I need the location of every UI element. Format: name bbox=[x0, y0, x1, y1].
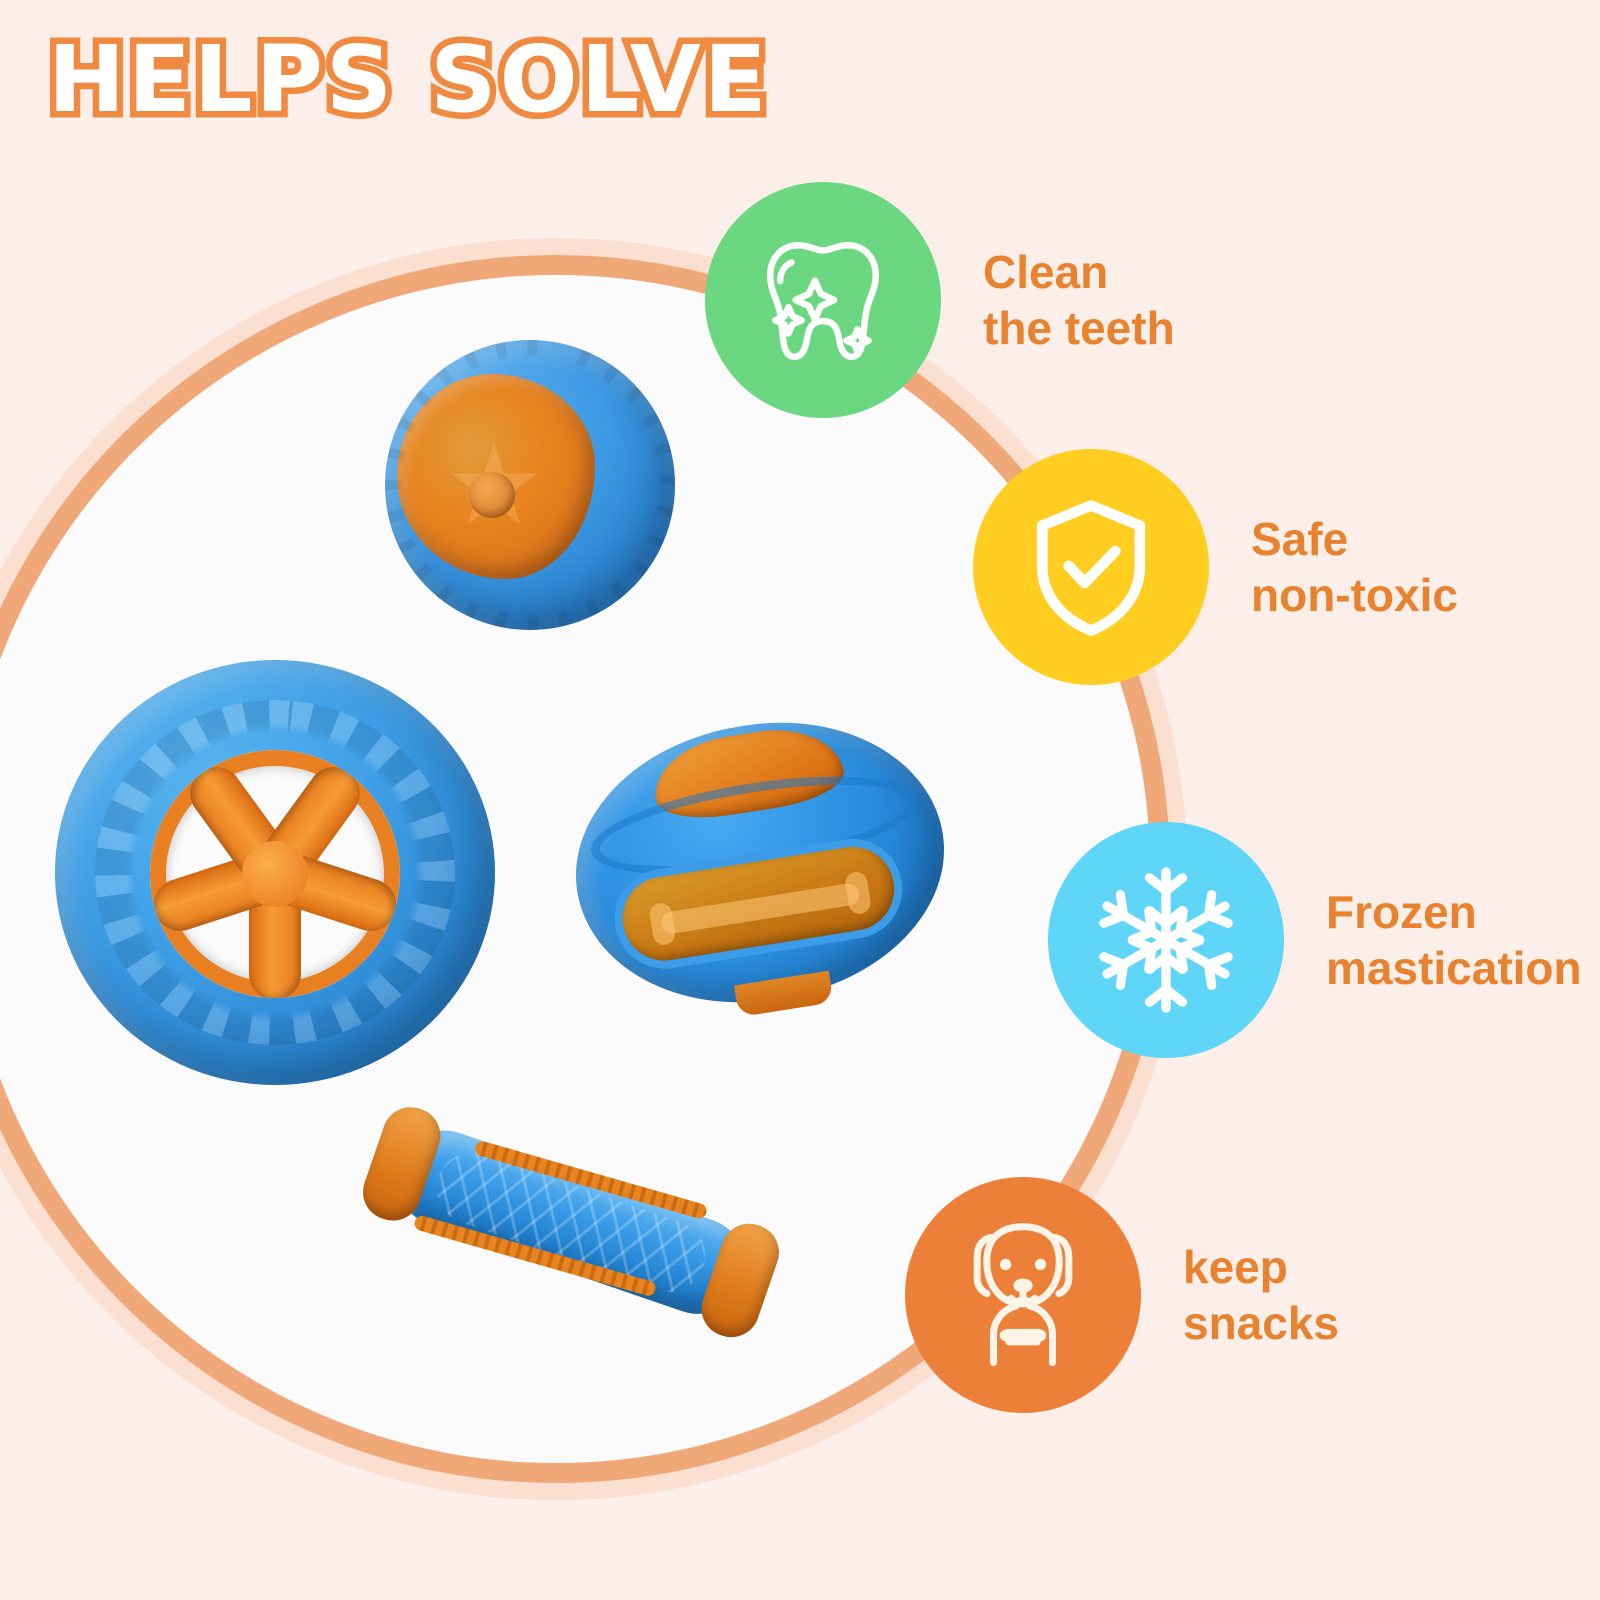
feature-safe-non-toxic: Safe non-toxic bbox=[973, 449, 1458, 685]
badge-frozen-mastication bbox=[1048, 822, 1284, 1058]
infographic-canvas: HELPS SOLVE bbox=[0, 0, 1600, 1600]
page-title: HELPS SOLVE bbox=[48, 34, 770, 126]
shield-check-icon bbox=[1029, 497, 1153, 637]
badge-keep-snacks bbox=[905, 1177, 1141, 1413]
badge-safe-non-toxic bbox=[973, 449, 1209, 685]
feature-label-frozen-mastication: Frozen mastication bbox=[1326, 884, 1582, 996]
product-chew-tire bbox=[55, 660, 495, 1085]
feature-label-clean-the-teeth: Clean the teeth bbox=[983, 244, 1175, 356]
feature-clean-the-teeth: Clean the teeth bbox=[705, 182, 1175, 418]
feature-label-keep-snacks: keep snacks bbox=[1183, 1239, 1339, 1351]
ball-tread-texture bbox=[385, 340, 675, 630]
tire-hub bbox=[150, 750, 400, 998]
feature-label-safe-non-toxic: Safe non-toxic bbox=[1251, 511, 1458, 623]
product-chew-ball bbox=[385, 340, 675, 630]
snowflake-icon bbox=[1091, 865, 1241, 1015]
badge-clean-the-teeth bbox=[705, 182, 941, 418]
football-bone-relief bbox=[660, 882, 861, 935]
feature-keep-snacks: keep snacks bbox=[905, 1177, 1339, 1413]
tire-hub-cap bbox=[242, 841, 308, 907]
product-chew-football bbox=[556, 698, 964, 1027]
dog-with-bone-icon bbox=[951, 1220, 1095, 1370]
tooth-sparkle-icon bbox=[758, 231, 888, 369]
feature-frozen-mastication: Frozen mastication bbox=[1048, 822, 1582, 1058]
